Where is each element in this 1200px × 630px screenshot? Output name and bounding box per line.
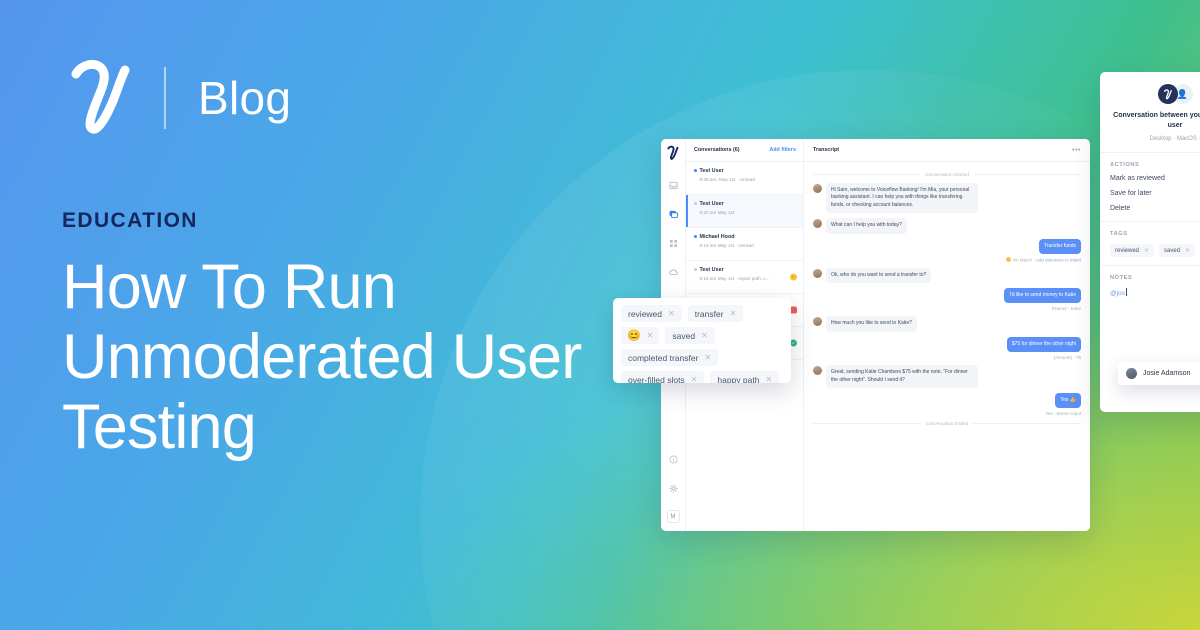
conversation-list-item[interactable]: Michael Hood9:19 am May 1st · Unread: [686, 228, 803, 261]
transcript-message-row: Hi Sam, welcome to Voiceflow Banking! I'…: [813, 183, 1081, 213]
transcript-message-row: Yes 👍: [813, 393, 1081, 408]
tag-picker-popup[interactable]: reviewed✕transfer✕😊✕saved✕completed tran…: [613, 298, 791, 383]
message-annotation: {Amount} - 75: [813, 355, 1081, 360]
avatar: [1126, 368, 1137, 379]
avatar: [813, 317, 822, 326]
detail-subtitle: Desktop · MacOS ·: [1110, 136, 1200, 142]
tag-label: 😊: [627, 329, 641, 342]
blog-label: Blog: [198, 71, 291, 125]
brand-divider: [164, 67, 166, 129]
transcript-message-row: Ok, who do you want to send a transfer t…: [813, 268, 1081, 283]
transcript-messages: Hi Sam, welcome to Voiceflow Banking! I'…: [813, 183, 1081, 416]
message-bubble: Yes 👍: [1055, 393, 1081, 408]
warning-icon: [1006, 257, 1011, 262]
sidebar-item-cloud-icon[interactable]: [666, 265, 681, 280]
conversation-name: Michael Hood: [694, 234, 796, 240]
message-bubble: $75 for dinner the other night: [1007, 337, 1081, 352]
close-icon[interactable]: ✕: [701, 331, 708, 340]
detail-avatars: 👤: [1110, 84, 1200, 104]
message-bubble: What can I help you with today?: [826, 218, 907, 233]
transcript-message-row: Transfer funds: [813, 239, 1081, 254]
avatar: [813, 366, 822, 375]
category-eyebrow: EDUCATION: [62, 209, 198, 233]
tag-label: completed transfer: [628, 353, 698, 363]
tag-label: reviewed: [628, 309, 662, 319]
unread-dot-icon: [694, 268, 697, 271]
tag-label: happy path: [717, 375, 759, 384]
detail-notes-section: NOTES @jos: [1100, 266, 1200, 305]
transcript-message-row: Great, sending Katie Chambers $75 with t…: [813, 365, 1081, 388]
notes-label: NOTES: [1110, 275, 1200, 281]
text-cursor: [1126, 288, 1127, 296]
add-utterance-link[interactable]: Add utterance to intent: [1036, 258, 1081, 263]
actions-label: ACTIONS: [1110, 162, 1200, 168]
avatar: [813, 184, 822, 193]
message-bubble: Great, sending Katie Chambers $75 with t…: [826, 365, 978, 388]
tag-chip[interactable]: 😊✕: [621, 327, 659, 344]
unread-dot-icon: [694, 202, 697, 205]
message-bubble: Hi Sam, welcome to Voiceflow Banking! I'…: [826, 183, 978, 213]
close-icon[interactable]: ✕: [668, 309, 675, 318]
tag-chip[interactable]: saved✕: [665, 327, 714, 344]
detail-tags-section: TAGS reviewed ✕ saved ✕: [1100, 222, 1200, 266]
sidebar-item-conversations-icon[interactable]: [666, 207, 681, 222]
conversation-meta: 9:20 am May 1st: [694, 210, 796, 215]
notes-value: @jos: [1110, 290, 1125, 297]
transcript-panel: Transcript ••• Conversation Started Hi S…: [804, 139, 1090, 531]
sidebar-logo-icon[interactable]: [666, 145, 680, 161]
transcript-title: Transcript: [813, 147, 839, 153]
page-title: How To Run Unmoderated User Testing: [62, 252, 622, 462]
close-icon[interactable]: ✕: [1144, 247, 1149, 254]
transcript-message-row: $75 for dinner the other night: [813, 337, 1081, 352]
voiceflow-v-logo-icon: [62, 56, 140, 140]
transcript-message-row: I'd like to send money to Katie: [813, 288, 1081, 303]
delete-action[interactable]: Delete: [1110, 205, 1200, 212]
save-for-later-action[interactable]: Save for later: [1110, 190, 1200, 197]
tags-label: TAGS: [1110, 231, 1200, 237]
conversation-ended-divider: Conversation Ended: [813, 421, 1081, 426]
conversations-title: Conversations (6): [694, 147, 740, 153]
tag-label: transfer: [695, 309, 724, 319]
sidebar-settings-gear-icon[interactable]: [666, 481, 681, 496]
tag-chip[interactable]: transfer✕: [688, 305, 744, 322]
transcript-message-row: What can I help you with today?: [813, 218, 1081, 233]
message-annotation[interactable]: No Match · Add utterance to intent: [813, 257, 1081, 263]
tag-chip[interactable]: happy path✕: [710, 371, 779, 383]
tag-label: over-filled slots: [628, 375, 685, 384]
conversation-list-item[interactable]: Test User9:20 am May 1st: [686, 195, 803, 228]
add-filters-button[interactable]: Add filters: [769, 147, 796, 153]
mention-name: Josie Adamson: [1143, 370, 1190, 377]
notes-input[interactable]: @jos: [1110, 288, 1200, 297]
unread-dot-icon: [694, 169, 697, 172]
mark-as-reviewed-action[interactable]: Mark as reviewed: [1110, 175, 1200, 182]
transcript-header: Transcript •••: [804, 139, 1090, 162]
sidebar-info-icon[interactable]: [666, 452, 681, 467]
transcript-body: Conversation Started Hi Sam, welcome to …: [804, 162, 1090, 531]
close-icon[interactable]: ✕: [765, 375, 772, 383]
unread-dot-icon: [694, 235, 697, 238]
close-icon[interactable]: ✕: [704, 353, 711, 362]
mention-suggestion-dropdown[interactable]: Josie Adamson: [1118, 362, 1200, 385]
message-annotation: Yes - Button Input: [813, 411, 1081, 416]
conversation-meta: 9:16 am May 1st · repair path, c...: [694, 276, 796, 281]
detail-tag-label: reviewed: [1115, 248, 1139, 254]
message-bubble: Transfer funds: [1039, 239, 1081, 254]
conversation-meta: 9:39 am, May 1st · Unread: [694, 177, 796, 182]
transcript-message-row: How much you like to send to Katie?: [813, 316, 1081, 331]
sidebar-user-avatar[interactable]: M: [667, 510, 680, 523]
close-icon[interactable]: ✕: [691, 375, 698, 383]
brand-header: Blog: [62, 56, 291, 140]
message-annotation: {Name} - Katie: [813, 306, 1081, 311]
conversation-meta: 9:19 am May 1st · Unread: [694, 243, 796, 248]
detail-header: 👤 Conversation between you and a test us…: [1100, 72, 1200, 153]
tag-chip[interactable]: completed transfer✕: [621, 349, 718, 366]
close-icon[interactable]: ✕: [647, 331, 654, 340]
detail-tag[interactable]: reviewed ✕: [1110, 244, 1154, 257]
tag-label: saved: [672, 331, 695, 341]
sidebar-item-inbox-icon[interactable]: [666, 178, 681, 193]
conversation-detail-panel: 👤 Conversation between you and a test us…: [1100, 72, 1200, 412]
tag-chip[interactable]: over-filled slots✕: [621, 371, 704, 383]
conversations-header: Conversations (6) Add filters: [686, 139, 803, 162]
message-bubble: Ok, who do you want to send a transfer t…: [826, 268, 931, 283]
detail-tag-label: saved: [1164, 248, 1180, 254]
detail-tag-list: reviewed ✕ saved ✕: [1110, 244, 1200, 257]
voiceflow-v-logo-icon: [1158, 84, 1178, 104]
conversation-name: Test User: [694, 201, 796, 207]
avatar: [813, 269, 822, 278]
tag-chip[interactable]: reviewed✕: [621, 305, 682, 322]
close-icon[interactable]: ✕: [1185, 247, 1190, 254]
more-horizontal-icon[interactable]: •••: [1072, 147, 1081, 154]
sidebar-item-grid-icon[interactable]: [666, 236, 681, 251]
avatar: [813, 219, 822, 228]
conversation-name: Test User: [694, 267, 796, 273]
detail-title: Conversation between you and a test user: [1110, 111, 1200, 131]
message-bubble: I'd like to send money to Katie: [1004, 288, 1081, 303]
status-badge: ✓: [790, 340, 797, 347]
conversation-badges: ✓: [790, 340, 797, 347]
message-bubble: How much you like to send to Katie?: [826, 316, 917, 331]
conversation-name: Test User: [694, 168, 796, 174]
detail-tag[interactable]: saved ✕: [1159, 244, 1195, 257]
conversation-started-divider: Conversation Started: [813, 172, 1081, 177]
status-badge: 🙂: [790, 274, 797, 281]
conversation-list-item[interactable]: Test User9:39 am, May 1st · Unread: [686, 162, 803, 195]
detail-actions-section: ACTIONS Mark as reviewed Save for later …: [1100, 153, 1200, 222]
status-badge: [790, 307, 797, 314]
conversation-badges: 🙂: [790, 274, 797, 281]
conversation-list-item[interactable]: Test User9:16 am May 1st · repair path, …: [686, 261, 803, 294]
close-icon[interactable]: ✕: [730, 309, 737, 318]
